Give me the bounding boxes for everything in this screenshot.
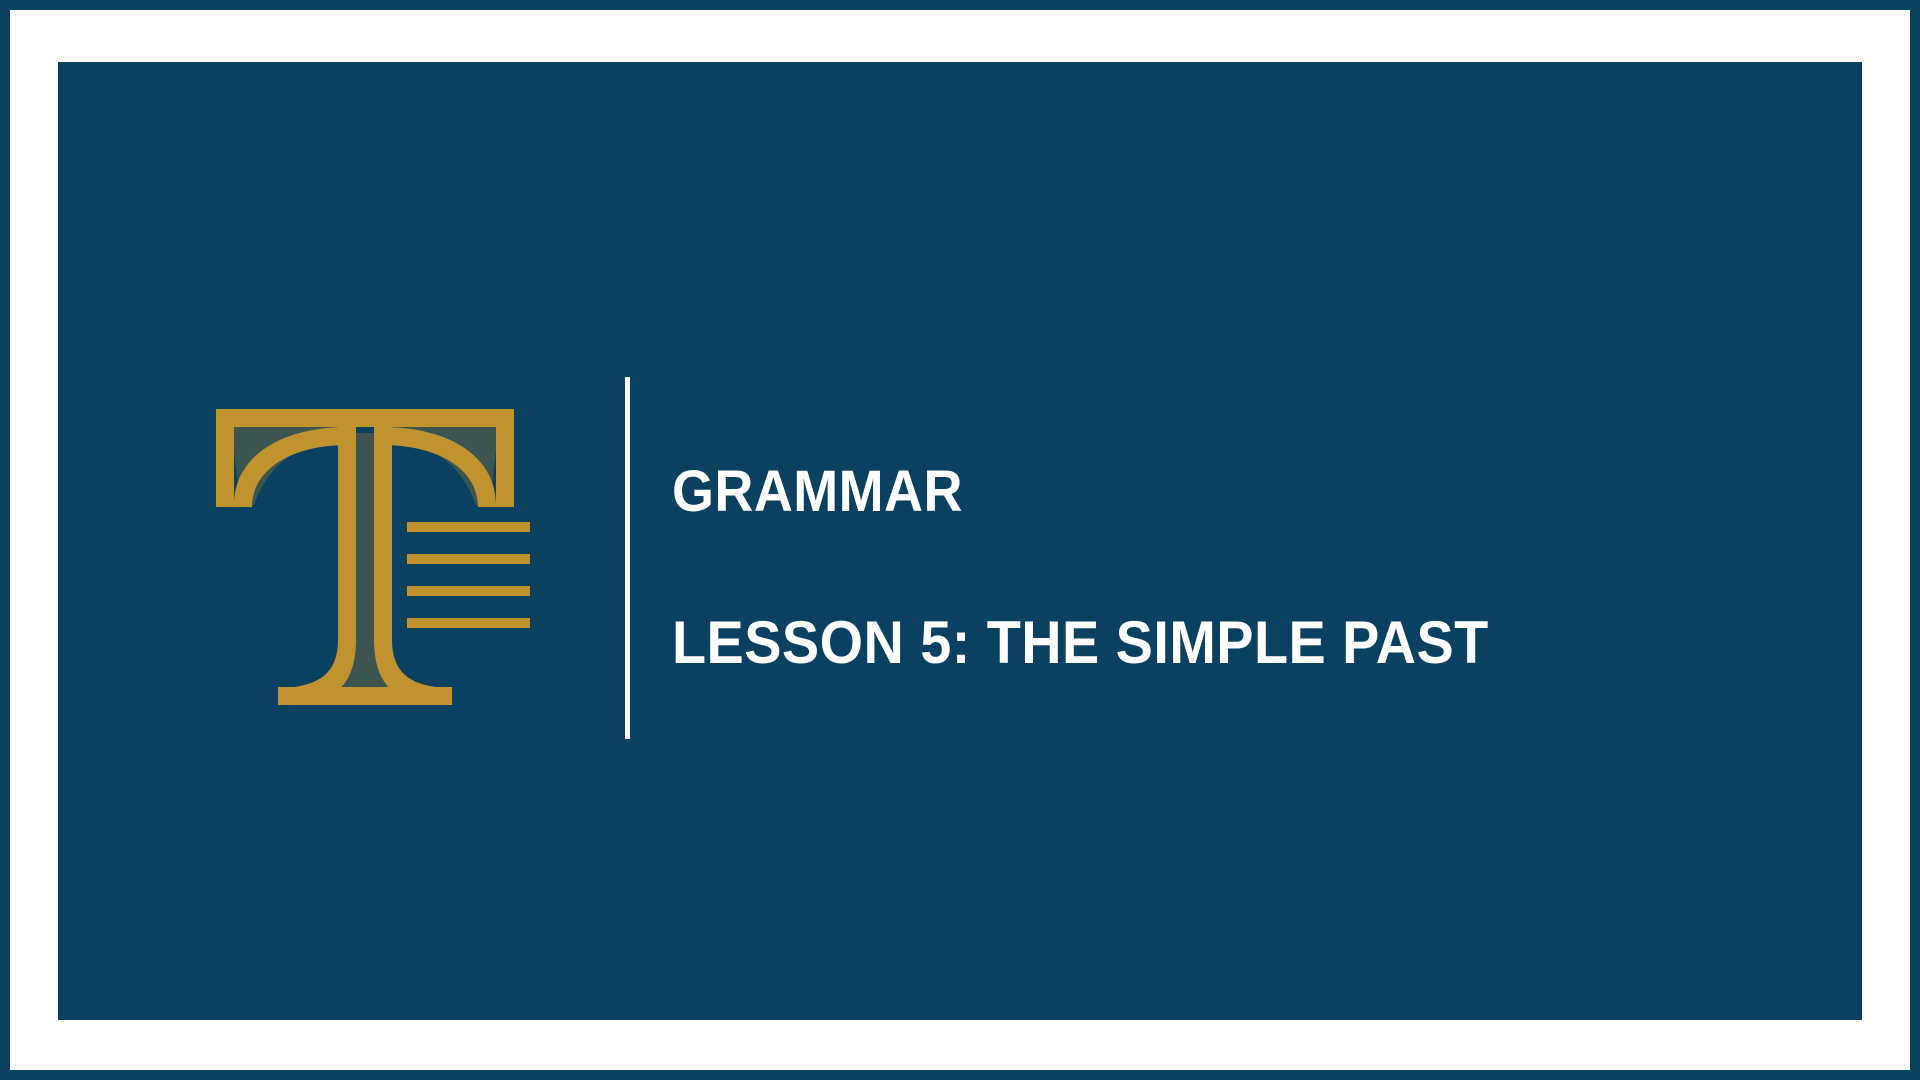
slide-content-row: GRAMMAR LESSON 5: THE SIMPLE PAST: [58, 372, 1862, 744]
brand-logo: [200, 393, 530, 723]
logo-line-1: [407, 522, 530, 532]
serif-t-document-icon: [200, 393, 530, 723]
lesson-title: LESSON 5: THE SIMPLE PAST: [672, 611, 1779, 674]
slide-root: GRAMMAR LESSON 5: THE SIMPLE PAST: [0, 0, 1920, 1080]
logo-line-4: [407, 618, 530, 628]
slide-panel: GRAMMAR LESSON 5: THE SIMPLE PAST: [58, 62, 1862, 1020]
subject-title: GRAMMAR: [672, 462, 1779, 523]
vertical-divider: [625, 377, 630, 739]
title-block: GRAMMAR LESSON 5: THE SIMPLE PAST: [672, 372, 1862, 744]
logo-line-2: [407, 554, 530, 564]
logo-line-3: [407, 586, 530, 596]
